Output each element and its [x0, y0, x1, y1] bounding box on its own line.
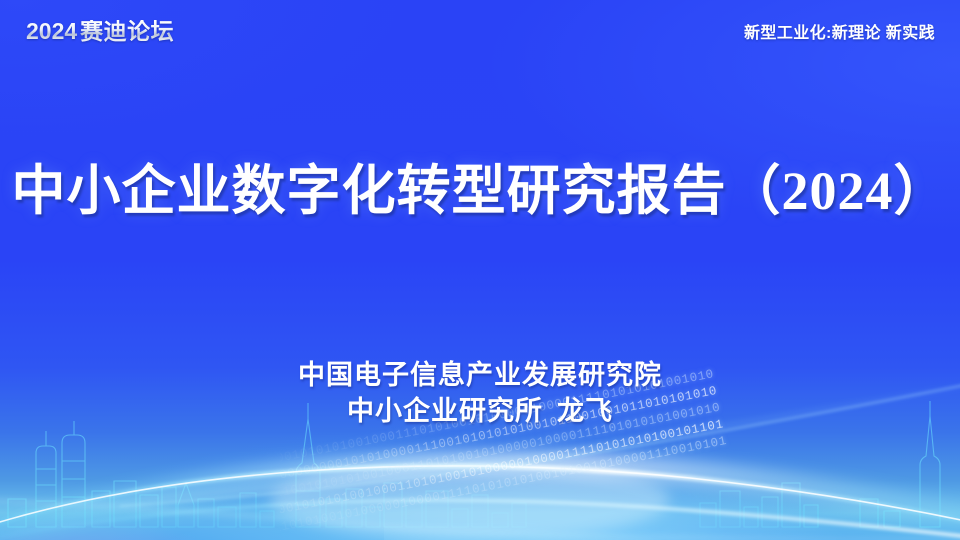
presenter-organization: 中国电子信息产业发展研究院: [0, 358, 960, 394]
light-streaks: [0, 0, 960, 540]
presenter-block: 中国电子信息产业发展研究院 中小企业研究所龙飞: [0, 358, 960, 429]
presenter-department-label: 中小企业研究所: [347, 396, 543, 426]
forum-logo: 2024赛迪论坛: [26, 20, 174, 43]
presenter-speaker-name: 龙飞: [557, 396, 613, 426]
slide-tagline: 新型工业化:新理论 新实践: [744, 24, 935, 43]
presenter-department: 中小企业研究所龙飞: [0, 394, 960, 430]
forum-logo-year: 2024: [26, 18, 77, 44]
presentation-slide: 0101100000010000111001010101001000111010…: [0, 0, 960, 540]
forum-logo-name: 赛迪论坛: [80, 18, 174, 44]
page-title: 中小企业数字化转型研究报告（2024）: [0, 160, 960, 224]
